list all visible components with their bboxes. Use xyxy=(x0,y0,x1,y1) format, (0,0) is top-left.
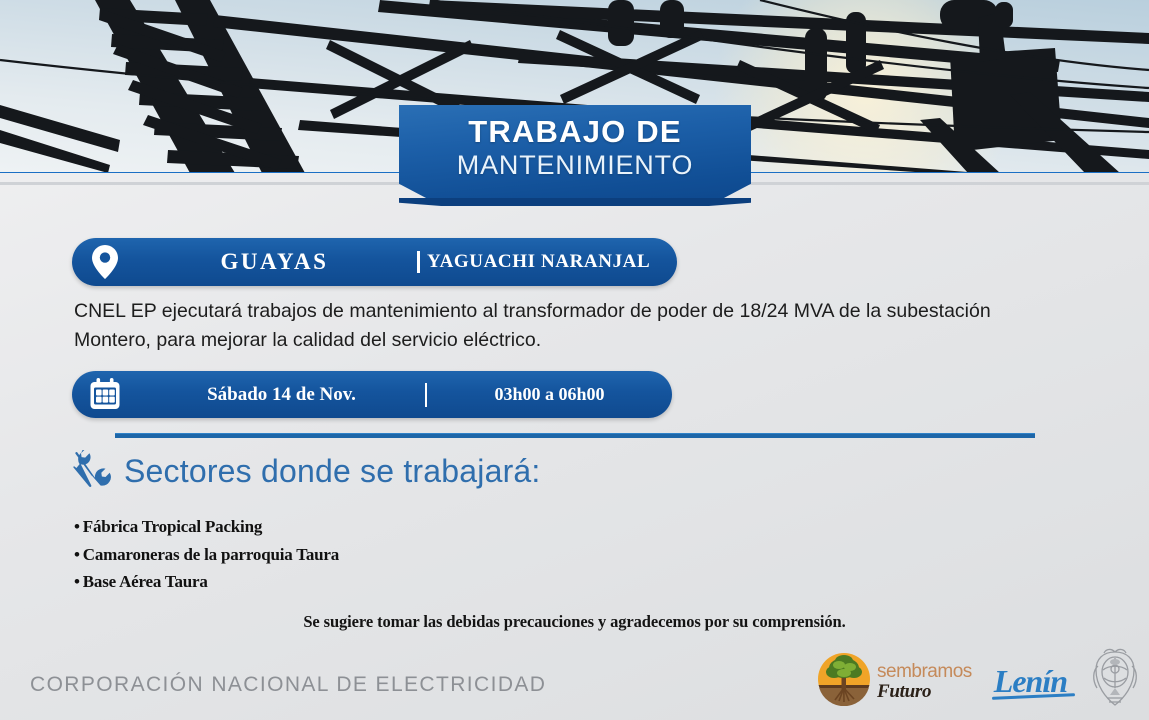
maintenance-notice-poster: TRABAJO DE MANTENIMIENTO GUAYAS YAGUACHI… xyxy=(0,0,1149,720)
sectors-heading-row: Sectores donde se trabajará: xyxy=(72,450,541,493)
description-text: CNEL EP ejecutará trabajos de mantenimie… xyxy=(74,297,994,355)
sembramos-line2: Futuro xyxy=(877,682,972,701)
title-banner: TRABAJO DE MANTENIMIENTO xyxy=(399,105,751,206)
canton-label: YAGUACHI NARANJAL xyxy=(417,251,677,273)
footer-logos: sembramos Futuro Lenín xyxy=(817,648,1141,715)
schedule-time: 03h00 a 06h00 xyxy=(427,384,672,405)
banner-text: TRABAJO DE MANTENIMIENTO xyxy=(399,105,751,206)
advisory-note: Se sugiere tomar las debidas precaucione… xyxy=(0,612,1149,632)
sembramos-futuro-text: sembramos Futuro xyxy=(877,662,972,701)
tree-logo-icon xyxy=(817,652,871,711)
province-label: GUAYAS xyxy=(138,249,411,275)
list-item: Camaroneras de la parroquia Taura xyxy=(74,541,774,569)
ecuador-coat-of-arms-icon xyxy=(1089,648,1141,715)
banner-title-line1: TRABAJO DE xyxy=(399,116,751,149)
schedule-bar: Sábado 14 de Nov. 03h00 a 06h00 xyxy=(72,371,672,418)
corporation-name: CORPORACIÓN NACIONAL DE ELECTRICIDAD xyxy=(30,673,546,697)
schedule-date: Sábado 14 de Nov. xyxy=(138,384,425,406)
map-pin-icon xyxy=(72,245,138,279)
sembramos-futuro-logo: sembramos Futuro xyxy=(817,652,972,711)
list-item: Fábrica Tropical Packing xyxy=(74,513,774,541)
location-bar: GUAYAS YAGUACHI NARANJAL xyxy=(72,238,677,286)
lenin-signature-logo: Lenín xyxy=(990,663,1071,700)
section-divider xyxy=(115,433,1035,438)
sectors-list: Fábrica Tropical Packing Camaroneras de … xyxy=(74,513,774,596)
sectors-heading: Sectores donde se trabajará: xyxy=(124,453,541,490)
list-item: Base Aérea Taura xyxy=(74,568,774,596)
calendar-icon xyxy=(72,378,138,411)
sembramos-line1: sembramos xyxy=(877,662,972,681)
banner-title-line2: MANTENIMIENTO xyxy=(399,151,751,179)
tools-icon xyxy=(72,450,112,493)
